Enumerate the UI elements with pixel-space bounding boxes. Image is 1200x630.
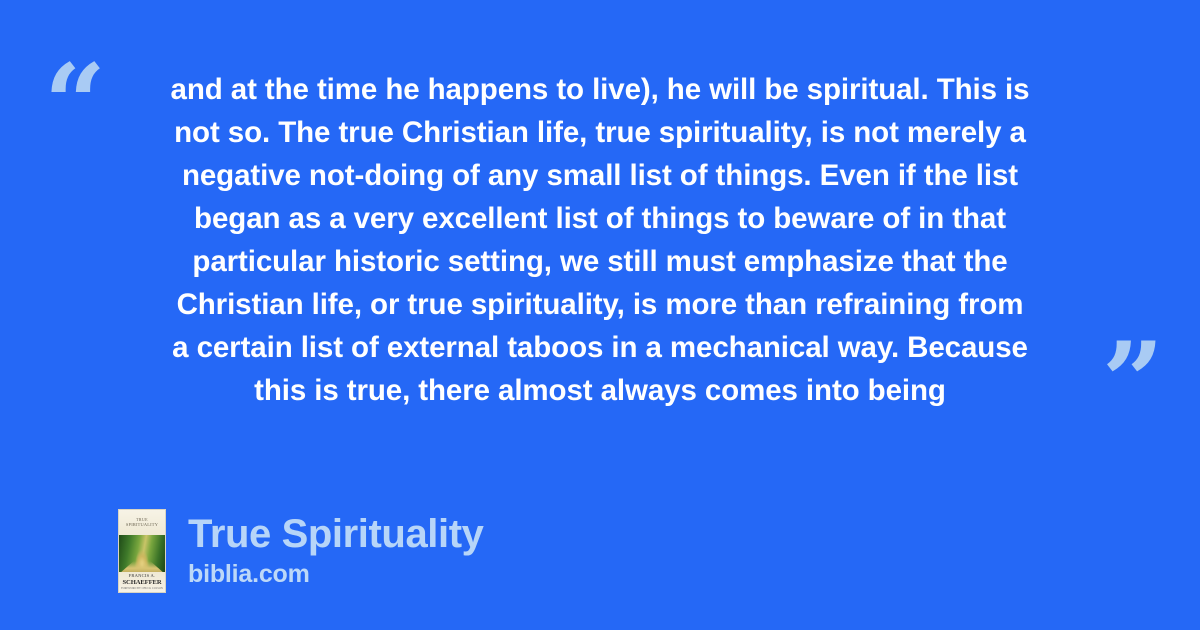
- book-cover-author-band: FRANCIS A. SCHAEFFER FOREWORD BY CHUCK C…: [119, 572, 165, 592]
- attribution-footer: TRUE SPIRITUALITY FRANCIS A. SCHAEFFER F…: [118, 509, 484, 593]
- book-cover-title-line-2: SPIRITUALITY: [126, 522, 158, 528]
- attribution-text: True Spirituality biblia.com: [188, 509, 484, 589]
- opening-quotation-mark-icon: “: [44, 50, 104, 158]
- book-cover-title-band: TRUE SPIRITUALITY: [119, 510, 165, 535]
- quote-block: “ and at the time he happens to live), h…: [0, 56, 1200, 416]
- book-cover-foreword-line: FOREWORD BY CHUCK COLSON: [121, 587, 163, 591]
- book-title: True Spirituality: [188, 511, 484, 557]
- book-cover-thumbnail: TRUE SPIRITUALITY FRANCIS A. SCHAEFFER F…: [118, 509, 166, 593]
- book-cover-author-line-2: SCHAEFFER: [122, 579, 161, 587]
- quote-text: and at the time he happens to live), he …: [108, 68, 1092, 412]
- quote-card: “ and at the time he happens to live), h…: [0, 0, 1200, 630]
- closing-quotation-mark-icon: ”: [1102, 328, 1162, 436]
- book-cover-photo: [119, 535, 165, 574]
- site-name: biblia.com: [188, 560, 484, 589]
